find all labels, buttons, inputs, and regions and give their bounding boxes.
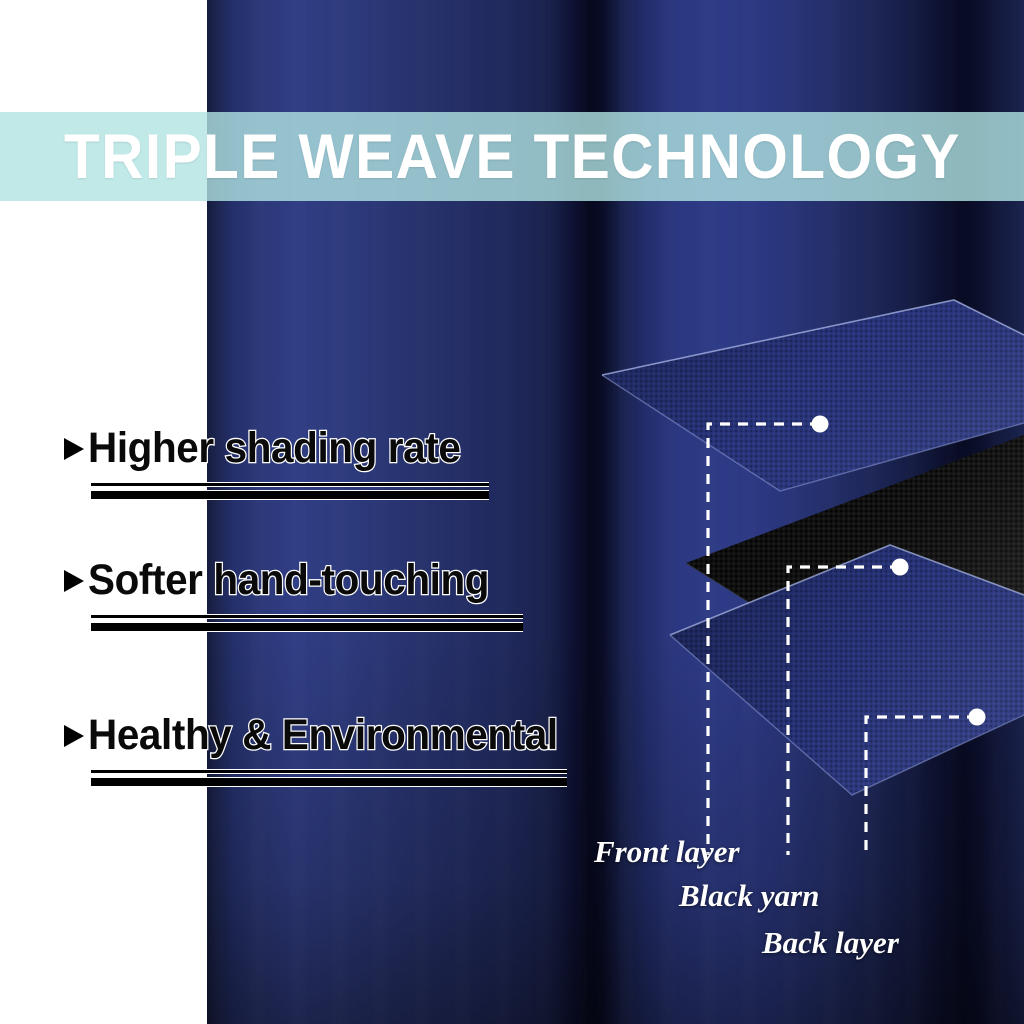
feature-item-3: Healthy & Environmental [64, 711, 588, 787]
feature-underline [91, 482, 489, 500]
triangle-right-icon [64, 570, 84, 592]
callout-dot-back [969, 709, 986, 726]
callout-label-front-layer: Front layer [594, 834, 740, 870]
rule-thick [91, 622, 523, 632]
feature-label: Softer hand-touching [88, 556, 489, 605]
callout-dot-yarn [892, 559, 909, 576]
feature-underline [91, 769, 567, 787]
feature-label: Healthy & Environmental [88, 711, 558, 760]
product-feature-image: TRIPLE WEAVE TECHNOLOGY Higher shading r… [0, 0, 1024, 1024]
triangle-right-icon [64, 438, 84, 460]
feature-item-1: Higher shading rate [64, 424, 489, 500]
rule-thick [91, 490, 489, 500]
rule-thin [91, 614, 523, 619]
feature-row: Healthy & Environmental [64, 711, 588, 760]
callout-dot-front [812, 416, 829, 433]
triple-weave-layer-diagram [590, 295, 1024, 855]
feature-item-2: Softer hand-touching [64, 556, 523, 632]
rule-thin [91, 482, 489, 487]
page-title: TRIPLE WEAVE TECHNOLOGY [64, 112, 957, 201]
callout-label-black-yarn: Black yarn [679, 878, 819, 914]
callout-label-back-layer: Back layer [762, 925, 899, 961]
feature-label: Higher shading rate [88, 424, 460, 473]
feature-underline [91, 614, 523, 632]
triangle-right-icon [64, 725, 84, 747]
feature-row: Higher shading rate [64, 424, 489, 473]
rule-thin [91, 769, 567, 774]
rule-thick [91, 777, 567, 787]
feature-row: Softer hand-touching [64, 556, 523, 605]
